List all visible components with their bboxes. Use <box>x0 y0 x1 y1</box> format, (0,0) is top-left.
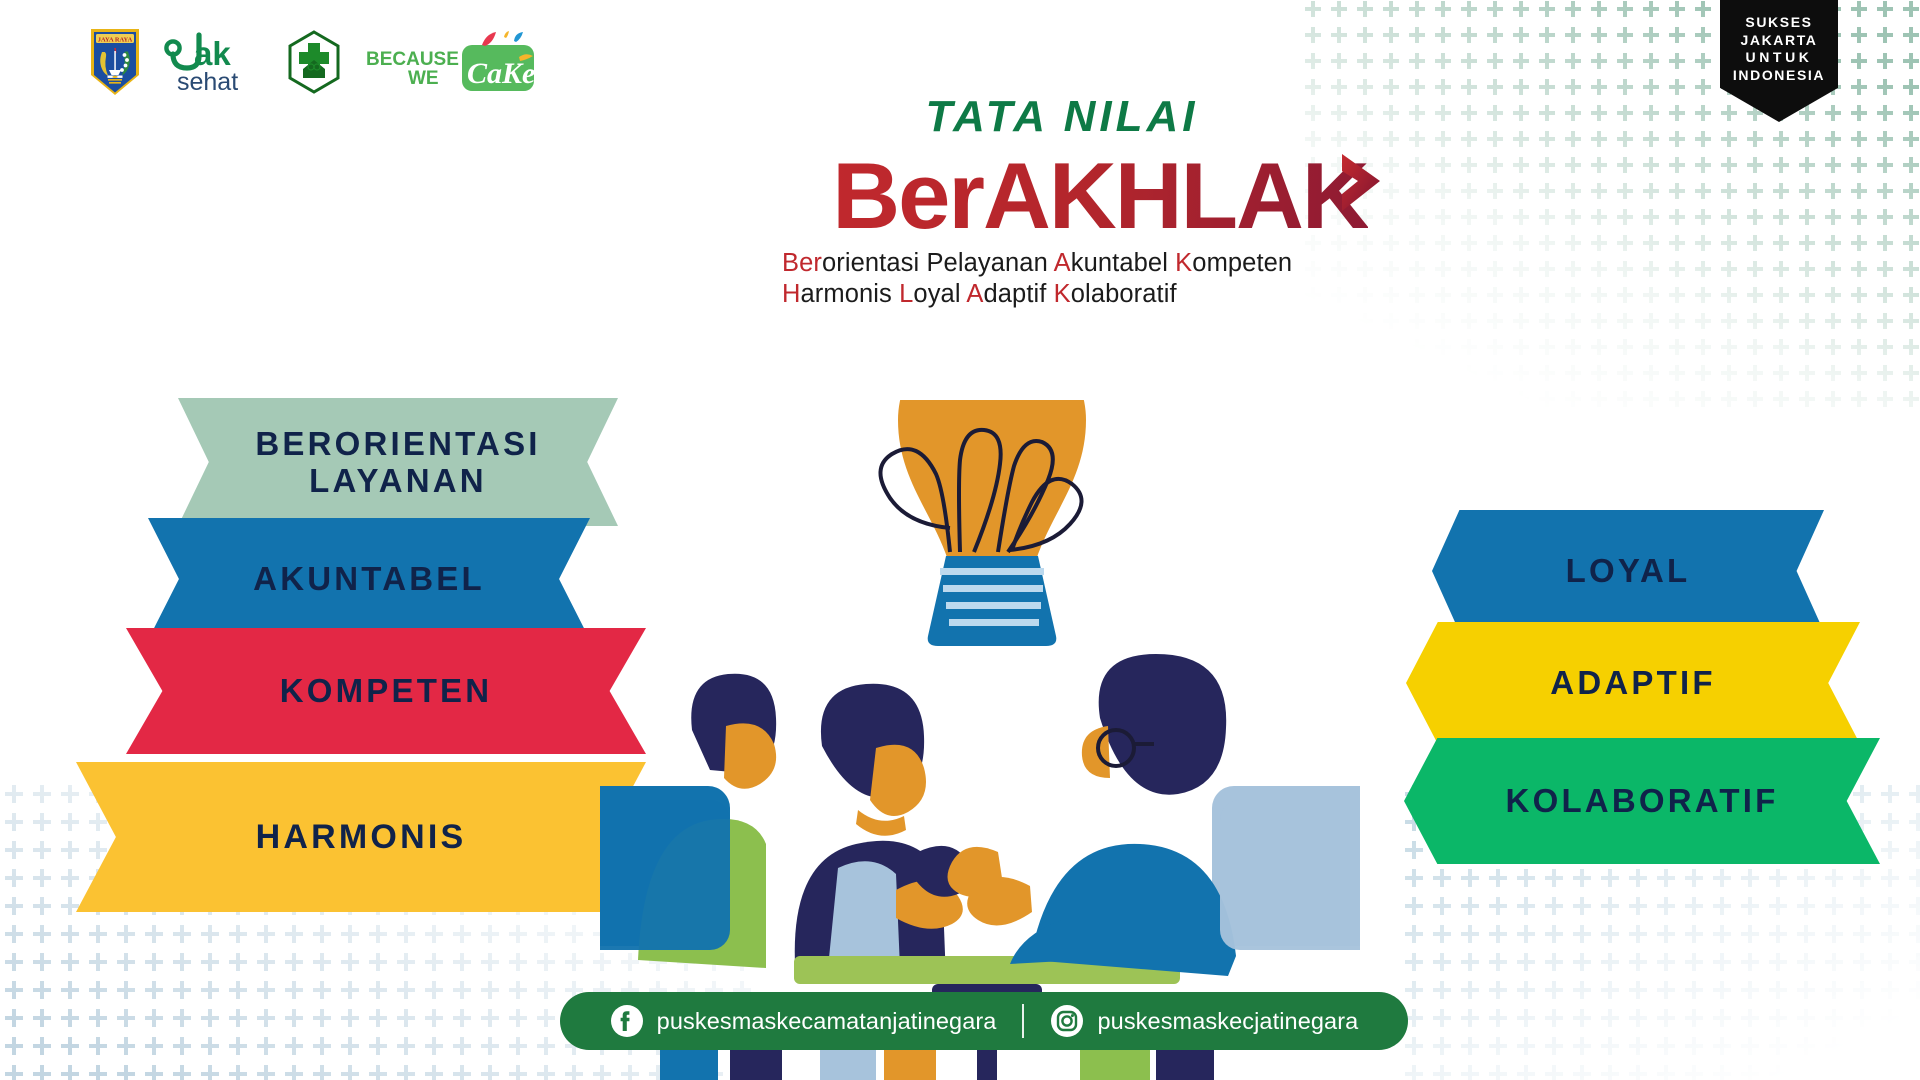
ribbon-label-line1: BERORIENTASI <box>255 425 540 462</box>
because-we-cake-logo: BECAUSE WE CaKe <box>364 31 544 93</box>
acronym-initial: K <box>1175 249 1192 277</box>
acronym-text: daptif <box>983 280 1053 308</box>
ribbon-label: BERORIENTASI LAYANAN <box>255 425 540 500</box>
acronym-text: armonis <box>801 280 900 308</box>
value-ribbon-kompeten[interactable]: KOMPETEN <box>126 628 646 754</box>
jakarta-provincial-emblem: JAYA RAYA <box>88 26 142 98</box>
ribbon-label: KOMPETEN <box>280 672 493 709</box>
ribbon-label: ADAPTIF <box>1550 664 1715 701</box>
acronym-text: olaboratif <box>1071 280 1177 308</box>
value-ribbon-loyal[interactable]: LOYAL <box>1432 510 1824 632</box>
brand-lockup: BerAKHLAK <box>780 148 1420 244</box>
acronym-line-1: Berorientasi Pelayanan Akuntabel Kompete… <box>782 248 1420 279</box>
ribbon-label: AKUNTABEL <box>253 560 485 597</box>
title-block: TATA NILAI BerAKHLAK Berorientasi Pelaya… <box>780 92 1420 310</box>
badge-line-4: INDONESIA <box>1733 67 1825 85</box>
meeting-illustration <box>600 400 1360 1080</box>
badge-line-1: SUKSES <box>1745 14 1812 32</box>
chair-left-front <box>600 800 730 950</box>
value-ribbon-akuntabel[interactable]: AKUNTABEL <box>148 518 590 640</box>
svg-text:BECAUSE: BECAUSE <box>366 49 459 70</box>
facebook-icon <box>610 1004 644 1038</box>
acronym-initial: K <box>1054 280 1071 308</box>
instagram-handle: puskesmaskecjatinegara <box>1097 1008 1358 1035</box>
acronym-text: ompeten <box>1192 249 1292 277</box>
acronym-initial: L <box>899 280 913 308</box>
svg-text:sehat: sehat <box>177 68 238 95</box>
value-ribbon-harmonis[interactable]: HARMONIS <box>76 762 646 912</box>
value-ribbon-kolaboratif[interactable]: KOLABORATIF <box>1404 738 1880 864</box>
value-ribbon-berorientasi-layanan[interactable]: BERORIENTASI LAYANAN <box>178 398 618 526</box>
facebook-handle: puskesmaskecamatanjatinegara <box>657 1008 997 1035</box>
brand-berakhlak: BerAKHLAK <box>832 148 1368 244</box>
chair-right-front <box>1220 800 1360 950</box>
social-media-bar: puskesmaskecamatanjatinegara puskesmaske… <box>560 992 1408 1050</box>
badge-line-3: UNTUK <box>1746 49 1813 67</box>
poster-canvas: JAYA RAYA ak sehat <box>0 0 1920 1080</box>
ribbon-label-line2: LAYANAN <box>255 462 540 499</box>
eyebrow-tata-nilai: TATA NILAI <box>780 92 1420 142</box>
acronym-text: oyal <box>913 280 966 308</box>
value-ribbon-adaptif[interactable]: ADAPTIF <box>1406 622 1860 744</box>
facebook-handle-item[interactable]: puskesmaskecamatanjatinegara <box>610 1004 997 1038</box>
acronym-initial: Ber <box>782 249 822 277</box>
lightbulb-icon <box>880 400 1086 646</box>
svg-text:CaKe: CaKe <box>467 57 535 90</box>
svg-text:JAYA RAYA: JAYA RAYA <box>98 36 133 43</box>
chevron-right-icon <box>1336 152 1382 214</box>
acronym-text: orientasi Pelayanan <box>822 249 1054 277</box>
jak-sehat-logo: ak sehat <box>164 29 264 95</box>
social-divider <box>1022 1004 1024 1038</box>
badge-line-2: JAKARTA <box>1740 32 1817 50</box>
svg-text:ak: ak <box>194 35 231 72</box>
acronym-line-2: Harmonis Loyal Adaptif Kolaboratif <box>782 279 1420 310</box>
acronym-text: kuntabel <box>1071 249 1175 277</box>
partner-logo-row: JAYA RAYA ak sehat <box>88 26 544 98</box>
acronym-initial: A <box>1054 249 1071 277</box>
instagram-handle-item[interactable]: puskesmaskecjatinegara <box>1050 1004 1358 1038</box>
ribbon-label: HARMONIS <box>256 818 467 856</box>
svg-text:WE: WE <box>408 68 439 89</box>
instagram-icon <box>1050 1004 1084 1038</box>
puskesmas-hexagon-cross-logo <box>286 30 342 94</box>
acronym-initial: A <box>966 280 983 308</box>
acronym-initial: H <box>782 280 801 308</box>
ribbon-label: KOLABORATIF <box>1506 782 1779 819</box>
acronym-expansion: Berorientasi Pelayanan Akuntabel Kompete… <box>780 248 1420 310</box>
ribbon-label: LOYAL <box>1566 552 1691 589</box>
